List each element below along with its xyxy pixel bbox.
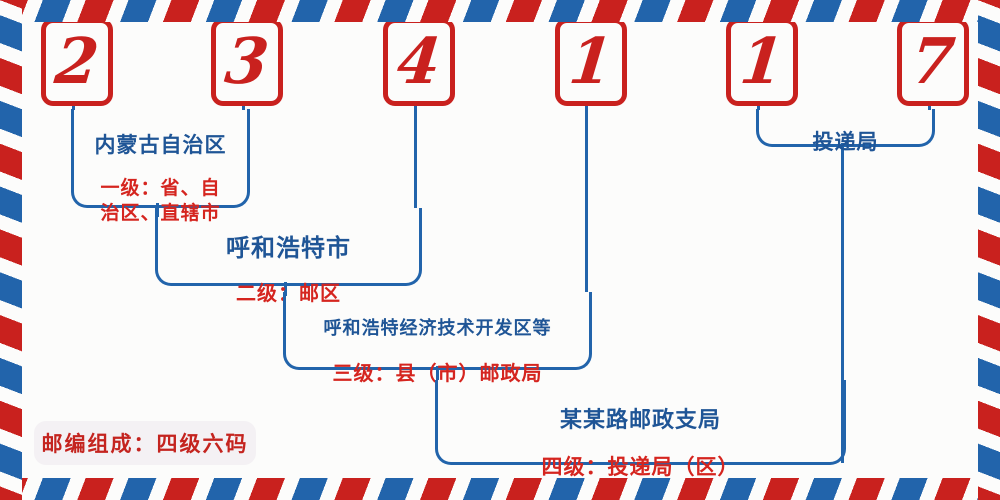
digit-glyph-6: 7 bbox=[908, 31, 957, 94]
level-1-title: 内蒙古自治区 bbox=[74, 131, 247, 158]
bracket-level-1[interactable]: 内蒙古自治区 一级：省、自 治区、直辖市 bbox=[71, 109, 250, 208]
level-4-title: 某某路邮政支局 bbox=[438, 406, 843, 435]
airmail-border-top bbox=[0, 0, 1000, 22]
airmail-border-bottom bbox=[0, 478, 1000, 500]
digit-glyph-5: 1 bbox=[737, 31, 786, 94]
connector-digit3-down bbox=[414, 108, 417, 208]
digit-glyph-3: 4 bbox=[394, 31, 443, 94]
digit-cell-5[interactable]: 1 bbox=[726, 18, 798, 106]
digit-cell-1[interactable]: 2 bbox=[41, 18, 113, 106]
digit-glyph-4: 1 bbox=[566, 31, 615, 94]
bracket-level-3[interactable]: 呼和浩特经济技术开发区等 三级：县（市）邮政局 bbox=[283, 292, 592, 370]
digit-cell-3[interactable]: 4 bbox=[383, 18, 455, 106]
bracket-delivery-office[interactable]: 投递局 bbox=[756, 109, 935, 147]
footer-caption-chip: 邮编组成：四级六码 bbox=[34, 421, 256, 465]
bracket-level-2[interactable]: 呼和浩特市 二级：邮区 bbox=[155, 208, 422, 286]
level-2-title: 呼和浩特市 bbox=[158, 232, 419, 263]
digit-cell-4[interactable]: 1 bbox=[555, 18, 627, 106]
bracket-level-4[interactable]: 某某路邮政支局 四级：投递局（区） bbox=[435, 380, 846, 465]
connector-digit4-down bbox=[585, 108, 588, 292]
digit-cell-2[interactable]: 3 bbox=[211, 18, 283, 106]
delivery-office-title: 投递局 bbox=[759, 128, 932, 156]
footer-caption-text: 邮编组成：四级六码 bbox=[42, 428, 249, 458]
digit-cell-6[interactable]: 7 bbox=[897, 18, 969, 106]
digit-glyph-2: 3 bbox=[222, 31, 271, 94]
level-3-title: 呼和浩特经济技术开发区等 bbox=[286, 316, 589, 342]
postcode-diagram: 2 3 4 1 1 7 内蒙古自治区 一级：省、自 治区、直辖市 呼和浩特市 二… bbox=[0, 0, 1000, 500]
airmail-border-right bbox=[978, 0, 1000, 500]
airmail-border-left bbox=[0, 0, 22, 500]
digit-glyph-1: 2 bbox=[52, 31, 101, 94]
